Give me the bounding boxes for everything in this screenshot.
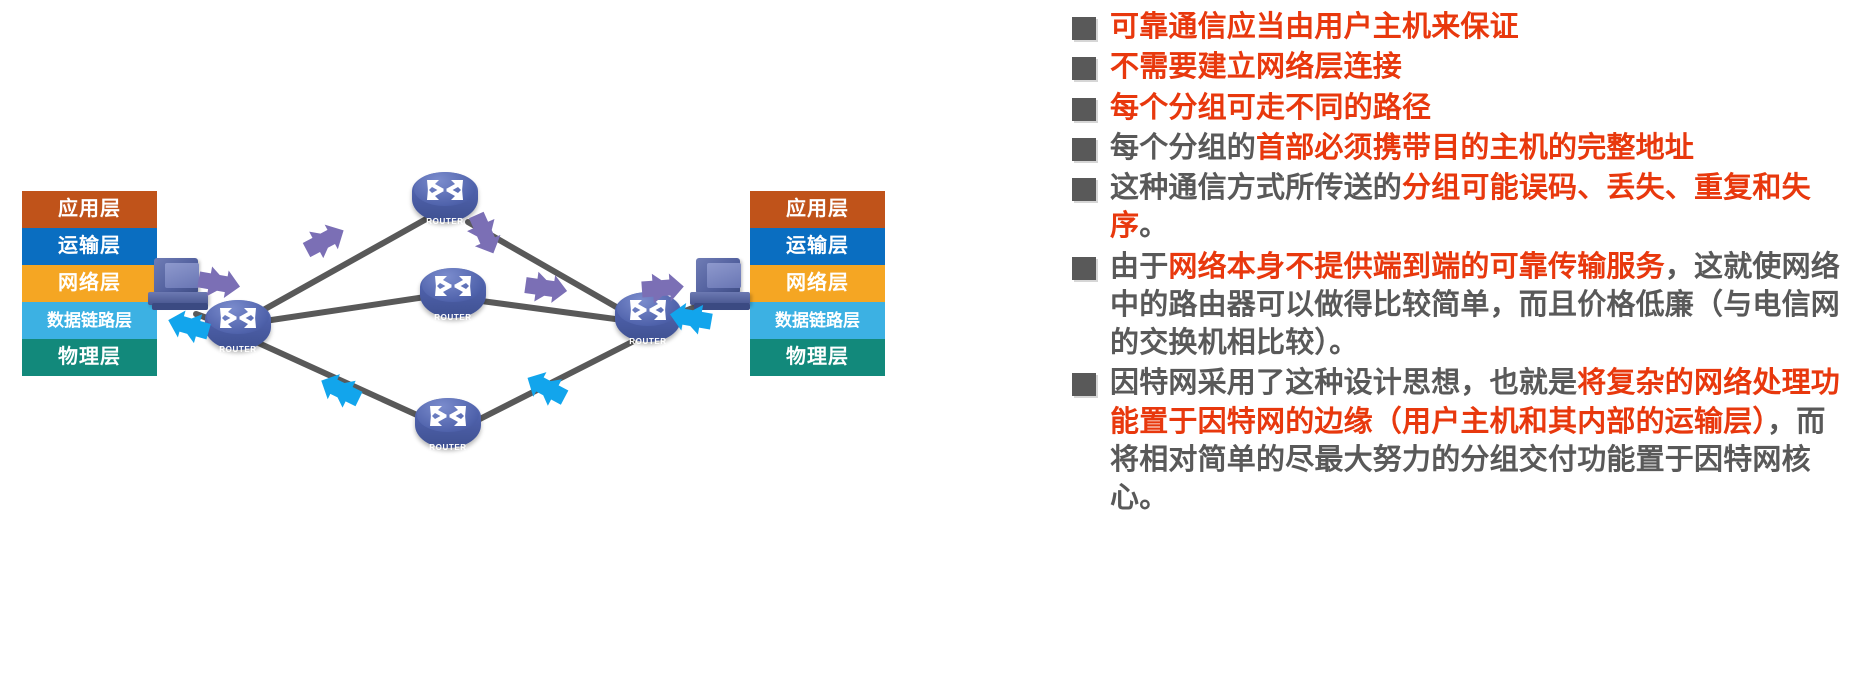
stack-layer-application: 应用层	[22, 191, 157, 228]
stack-layer-datalink: 数据链路层	[750, 302, 885, 339]
datagram-network-diagram: 应用层 运输层 网络层 数据链路层 物理层 应用层 运输层 网络层 数据链路层 …	[0, 0, 1060, 699]
text-run: 。	[1139, 210, 1168, 242]
list-item: 因特网采用了这种设计思想，也就是将复杂的网络处理功能置于因特网的边缘（用户主机和…	[1060, 364, 1857, 517]
packet-arrow-reverse-hostright	[665, 292, 717, 339]
text-run: 每个分组的	[1110, 132, 1256, 164]
router-label: ROUTER	[615, 337, 681, 346]
screen-icon	[165, 263, 199, 288]
router-label: ROUTER	[205, 345, 271, 354]
bullet-text: 因特网采用了这种设计思想，也就是将复杂的网络处理功能置于因特网的边缘（用户主机和…	[1110, 364, 1857, 517]
router-arrows-icon	[412, 175, 478, 205]
text-run: 网络本身不提供端到端的可靠传输服务	[1168, 251, 1664, 283]
square-bullet-icon	[1072, 17, 1096, 40]
list-item: 由于网络本身不提供端到端的可靠传输服务，这就使网络中的路由器可以做得比较简单，而…	[1060, 248, 1857, 363]
list-item: 不需要建立网络层连接	[1060, 48, 1857, 86]
router-center: ROUTER	[420, 268, 486, 324]
packet-arrow-forward-hostleft	[193, 261, 245, 308]
list-item: 可靠通信应当由用户主机来保证	[1060, 8, 1857, 46]
slide-root: 应用层 运输层 网络层 数据链路层 物理层 应用层 运输层 网络层 数据链路层 …	[0, 0, 1863, 699]
list-item: 这种通信方式所传送的分组可能误码、丢失、重复和失序。	[1060, 169, 1857, 246]
text-run: 每个分组可走不同的路径	[1110, 92, 1431, 124]
list-item: 每个分组可走不同的路径	[1060, 89, 1857, 127]
square-bullet-icon	[1072, 178, 1096, 201]
monitor-icon	[154, 258, 198, 294]
stack-layer-network: 网络层	[22, 265, 157, 302]
square-bullet-icon	[1072, 98, 1096, 121]
square-bullet-icon	[1072, 57, 1096, 80]
packet-arrow-forward-center	[520, 267, 571, 313]
stack-layer-transport: 运输层	[22, 228, 157, 265]
text-run: 这种通信方式所传送的	[1110, 172, 1402, 204]
stack-layer-application: 应用层	[750, 191, 885, 228]
list-item: 每个分组的首部必须携带目的主机的完整地址	[1060, 129, 1857, 167]
bullet-text: 每个分组的首部必须携带目的主机的完整地址	[1110, 129, 1857, 167]
bullet-list: 可靠通信应当由用户主机来保证 不需要建立网络层连接 每个分组可走不同的路径 每个…	[1060, 0, 1863, 699]
text-run: 不需要建立网络层连接	[1110, 51, 1402, 83]
screen-icon	[707, 263, 741, 288]
stack-layer-datalink: 数据链路层	[22, 302, 157, 339]
text-run: 可靠通信应当由用户主机来保证	[1110, 11, 1519, 43]
stack-layer-physical: 物理层	[22, 339, 157, 376]
host-protocol-stack-right: 应用层 运输层 网络层 数据链路层 物理层	[750, 191, 885, 376]
square-bullet-icon	[1072, 138, 1096, 161]
bullet-text: 可靠通信应当由用户主机来保证	[1110, 8, 1857, 46]
monitor-icon	[696, 258, 740, 294]
bullet-text: 这种通信方式所传送的分组可能误码、丢失、重复和失序。	[1110, 169, 1857, 246]
network-links	[0, 0, 1060, 699]
stack-layer-physical: 物理层	[750, 339, 885, 376]
text-run: 首部必须携带目的主机的完整地址	[1256, 132, 1694, 164]
bullet-text: 每个分组可走不同的路径	[1110, 89, 1857, 127]
bullet-text: 不需要建立网络层连接	[1110, 48, 1857, 86]
square-bullet-icon	[1072, 257, 1096, 280]
router-bottom: ROUTER	[415, 398, 481, 454]
text-run: 因特网采用了这种设计思想，也就是	[1110, 367, 1577, 399]
host-protocol-stack-left: 应用层 运输层 网络层 数据链路层 物理层	[22, 191, 157, 376]
stack-layer-network: 网络层	[750, 265, 885, 302]
square-bullet-icon	[1072, 373, 1096, 396]
router-arrows-icon	[415, 401, 481, 431]
text-run: 由于	[1110, 251, 1168, 283]
router-label: ROUTER	[420, 313, 486, 322]
stack-layer-transport: 运输层	[750, 228, 885, 265]
router-arrows-icon	[420, 271, 486, 301]
bullet-text: 由于网络本身不提供端到端的可靠传输服务，这就使网络中的路由器可以做得比较简单，而…	[1110, 248, 1857, 363]
router-label: ROUTER	[415, 443, 481, 452]
